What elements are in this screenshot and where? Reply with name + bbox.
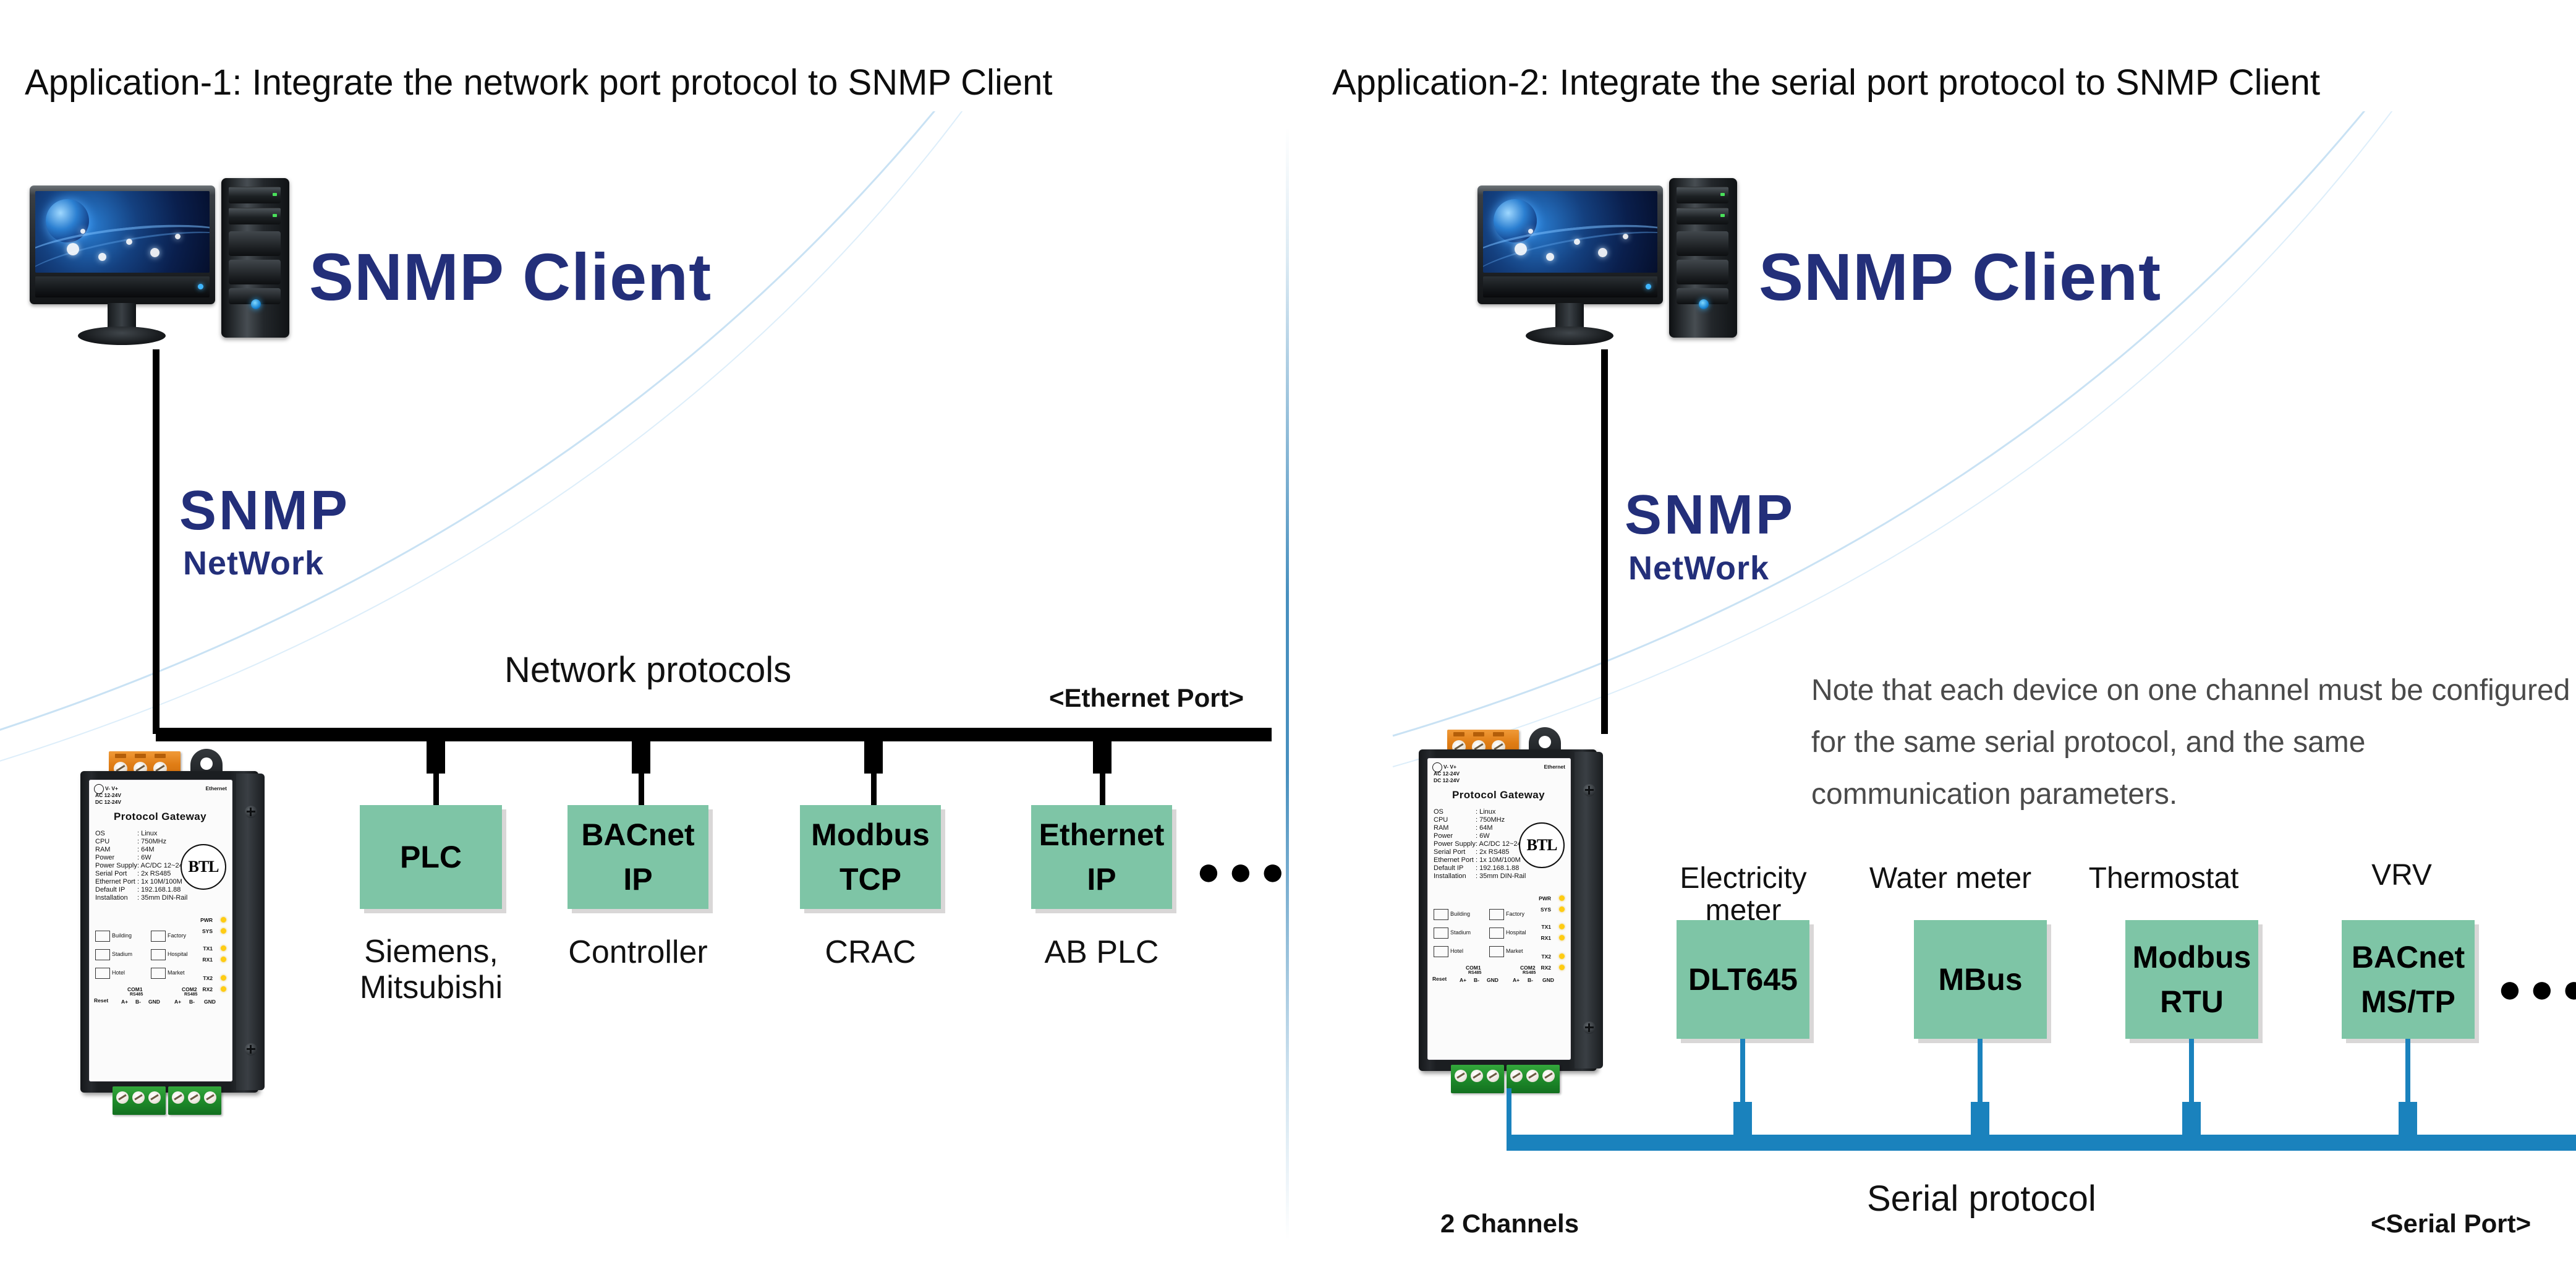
hospital-icon [151,949,166,960]
screw-icon-top [245,806,257,818]
serial-configuration-note: Note that each device on one channel mus… [1811,665,2572,821]
spec-value-8-b: : 35mm DIN-Rail [1476,872,1526,880]
com1-name: COM1 [127,986,143,992]
spec-key-6-b: Ethernet Port [1434,856,1474,864]
led-label-tx2-2: TX2 [1541,953,1551,960]
app-label-hotel: Hotel [112,970,125,976]
spec-value-2: : 64M [137,846,155,853]
protocol-box-ethernet-ip[interactable]: Ethernet IP [1031,805,1172,909]
com1-pin-b-2: B- [1474,977,1479,983]
spec-value-5-b: : 2x RS485 [1476,848,1509,856]
spec-value-2-b: : 64M [1476,824,1493,832]
spec-value-8: : 35mm DIN-Rail [137,894,187,902]
spec-value-3: : 6W [137,854,151,861]
bus-drop-3 [871,741,877,806]
com2-terminal-block-icon-2 [1507,1065,1560,1093]
gateway-title-2: Protocol Gateway [1452,789,1545,801]
protocol-box-modbus-rtu[interactable]: Modbus RTU [2125,920,2258,1039]
spec-key-7-b: Default IP [1434,864,1463,872]
monitor-screen-2 [1483,191,1657,273]
com2-terminal-block-icon [168,1086,221,1115]
screw-icon-bottom-2 [1583,1021,1596,1034]
led-label-rx1: RX1 [202,957,213,963]
serial-drop-gateway [1507,1088,1511,1138]
ethernet-port-tag-2: Ethernet [1544,764,1565,770]
ethernet-port-tag-label: <Ethernet Port> [1049,683,1244,713]
panel-2-title: Application-2: Integrate the serial port… [1332,62,2320,103]
protocol-box-plc[interactable]: PLC [360,805,502,909]
led-tx2-2 [1559,953,1565,959]
com1-pin-b: B- [135,999,141,1005]
snmp-link-label-2-line1: SNMP [1625,484,1795,547]
app-label-stadium: Stadium [112,951,132,957]
spec-value-0: : Linux [137,830,157,837]
protocol-box-modbus-tcp-line-1: TCP [840,857,901,902]
monitor-icon [30,186,215,304]
com1-pin-a: A+ [121,999,128,1005]
protocol-box-ethernet-ip-line-1: IP [1087,857,1116,902]
terminal-legend-line3: DC 12-24V [95,799,121,805]
led-label-pwr: PWR [200,917,213,923]
led-rx1 [221,957,226,962]
device-caption-thermostat: Thermostat [2068,863,2259,895]
protocol-box-plc-line-0: PLC [400,835,462,880]
snmp-link-line-2 [1601,349,1608,734]
led-label-rx2: RX2 [202,986,213,992]
monitor-screen [35,191,210,273]
spec-value-7-b: : 192.168.1.88 [1476,864,1519,872]
market-icon [151,968,166,979]
app-label-hospital: Hospital [168,951,188,957]
snmp-link-label-1-line2: NetWork [183,544,324,582]
app-label-factory: Factory [168,932,186,939]
snmp-link-label-1-line1: SNMP [179,479,350,543]
com1-terminal-block-icon [113,1086,166,1115]
protocol-box-mbus[interactable]: MBus [1914,920,2047,1039]
com1-bus: RS485 [130,992,143,997]
serial-bus-label: Serial protocol [1867,1178,2096,1219]
led-label-rx1-2: RX1 [1541,935,1551,941]
spec-key-5-b: Serial Port [1434,848,1465,856]
device-caption-plc-l2: Mitsubishi [337,970,525,1005]
led-pwr-2 [1559,895,1565,901]
led-tx1-2 [1559,924,1565,929]
more-devices-ellipsis-1: ●●● [1196,847,1293,894]
led-rx1-2 [1559,935,1565,940]
btl-certification-icon: BTL [181,844,226,890]
app-label-hospital-2: Hospital [1506,929,1526,936]
device-caption-water-meter: Water meter [1855,863,2046,895]
protocol-box-bacnet-ip-line-0: BACnet [581,812,694,858]
panel-1-title: Application-1: Integrate the network por… [25,62,1052,103]
ethernet-port-tag: Ethernet [206,785,227,791]
app-label-stadium-2: Stadium [1450,929,1471,936]
ground-symbol-icon-2 [1432,762,1442,772]
network-bus-label: Network protocols [504,649,791,691]
factory-icon [151,931,166,942]
network-bus-line [156,728,1272,741]
reset-label-2: Reset [1432,976,1447,982]
led-label-sys: SYS [202,928,213,934]
spec-key-8: Installation [95,894,128,902]
spec-value-5: : 2x RS485 [137,870,171,877]
protocol-box-bacnet-mstp-line-1: MS/TP [2361,979,2455,1025]
device-caption-crac: CRAC [800,934,941,971]
protocol-box-modbus-rtu-line-0: Modbus [2133,935,2251,980]
panel-divider [1286,127,1289,1240]
protocol-gateway-device-1: V- V+ AC 12-24V DC 12-24V Ethernet Proto… [80,739,272,1116]
computer-tower-icon-2 [1669,178,1737,338]
spec-key-4: Power Supply [95,862,137,869]
hospital-icon-2 [1489,928,1504,939]
serial-drop-cap-2 [1971,1102,1989,1138]
app-label-building-2: Building [1450,911,1470,917]
computer-tower-icon [221,178,289,338]
device-caption-electricity-l1: Electricity [1663,863,1824,895]
app-label-market: Market [168,970,185,976]
com1-terminal-block-icon-2 [1451,1065,1504,1093]
protocol-box-bacnet-mstp[interactable]: BACnet MS/TP [2342,920,2475,1039]
terminal-legend-line1: V- V+ [105,785,118,791]
led-label-sys-2: SYS [1541,906,1551,913]
protocol-box-modbus-rtu-line-1: RTU [2160,979,2224,1025]
snmp-client-computer-1 [30,186,295,352]
com2-pin-b-2: B- [1528,977,1533,983]
stadium-icon-2 [1434,928,1448,939]
led-sys [221,928,226,934]
protocol-box-dlt645-line-0: DLT645 [1688,957,1798,1002]
com1-pin-g: GND [148,999,160,1005]
market-icon-2 [1489,946,1504,957]
spec-key-1-b: CPU [1434,816,1448,824]
spec-key-2: RAM [95,846,110,853]
hotel-icon-2 [1434,946,1448,957]
led-label-tx2: TX2 [203,975,213,981]
spec-key-5: Serial Port [95,870,127,877]
spec-key-4-b: Power Supply [1434,840,1476,848]
terminal-legend-line1-2: V- V+ [1443,764,1456,770]
com2-name: COM2 [182,986,197,992]
spec-key-1: CPU [95,838,109,845]
diagram-canvas: Application-1: Integrate the network por… [0,0,2576,1288]
app-label-market-2: Market [1506,948,1523,954]
serial-bus-line [1507,1135,2576,1151]
gateway-title: Protocol Gateway [114,811,206,823]
led-tx2 [221,975,226,981]
device-caption-ab-plc: AB PLC [1031,934,1172,971]
bus-drop-1 [433,741,439,806]
spec-value-4: : AC/DC 12~24V [137,862,187,869]
stadium-icon [95,949,110,960]
snmp-client-computer-2 [1477,186,1743,352]
app-label-hotel-2: Hotel [1450,948,1463,954]
ground-symbol-icon [94,784,104,794]
screw-icon-top-2 [1583,784,1596,796]
com1-bus-2: RS485 [1468,971,1481,975]
spec-value-3-b: : 6W [1476,832,1490,840]
screw-icon-bottom [245,1043,257,1056]
spec-value-4-b: : AC/DC 12~24V [1476,840,1526,848]
device-caption-controller: Controller [567,934,708,971]
channels-label: 2 Channels [1440,1209,1579,1239]
spec-key-8-b: Installation [1434,872,1466,880]
spec-value-6-b: : 1x 10M/100M [1476,856,1521,864]
led-label-pwr-2: PWR [1539,895,1551,902]
serial-port-tag-label: <Serial Port> [2371,1209,2531,1239]
spec-key-0: OS [95,830,105,837]
protocol-box-bacnet-ip-line-1: IP [623,857,652,902]
gateway-faceplate: V- V+ AC 12-24V DC 12-24V Ethernet Proto… [89,780,232,1081]
spec-value-1-b: : 750MHz [1476,816,1505,824]
snmp-client-label-1: SNMP Client [309,238,712,315]
device-caption-plc-l1: Siemens, [337,934,525,970]
bus-drop-4 [1100,741,1105,806]
com2-pin-a: A+ [174,999,181,1005]
protocol-box-ethernet-ip-line-0: Ethernet [1039,812,1165,858]
com2-bus-2: RS485 [1523,971,1536,975]
snmp-link-line-1 [153,349,159,734]
com2-bus: RS485 [184,992,197,997]
led-rx2-2 [1559,965,1565,970]
serial-drop-cap-4 [2399,1102,2417,1138]
gateway-faceplate-2: V- V+ AC 12-24V DC 12-24V Ethernet Proto… [1427,758,1571,1060]
app-label-building: Building [112,932,132,939]
spec-value-6: : 1x 10M/100M [137,878,182,885]
led-pwr [221,917,226,923]
app-label-factory-2: Factory [1506,911,1524,917]
serial-drop-cap-3 [2182,1102,2201,1138]
spec-value-0-b: : Linux [1476,808,1495,816]
serial-drop-cap-1 [1733,1102,1752,1138]
com1-pin-a-2: A+ [1460,977,1466,983]
led-rx2 [221,986,226,992]
spec-key-3-b: Power [1434,832,1453,840]
protocol-box-dlt645[interactable]: DLT645 [1677,920,1809,1039]
spec-key-0-b: OS [1434,808,1443,816]
snmp-link-label-2-line2: NetWork [1628,549,1769,587]
com2-name-2: COM2 [1520,965,1536,971]
reset-label: Reset [94,997,108,1004]
device-caption-vrv: VRV [2331,859,2473,892]
led-sys-2 [1559,906,1565,912]
led-label-tx1-2: TX1 [1541,924,1551,930]
com1-pin-g-2: GND [1487,977,1498,983]
snmp-client-label-2: SNMP Client [1759,238,2161,315]
com2-pin-g: GND [204,999,216,1005]
building-icon [95,931,110,942]
led-tx1 [221,945,226,951]
protocol-box-mbus-line-0: MBus [1938,957,2022,1002]
protocol-gateway-device-2: V- V+ AC 12-24V DC 12-24V Ethernet Proto… [1419,717,1610,1094]
protocol-box-bacnet-ip[interactable]: BACnet IP [567,805,708,909]
com2-pin-g-2: GND [1542,977,1554,983]
com2-pin-a-2: A+ [1513,977,1520,983]
protocol-box-bacnet-mstp-line-0: BACnet [2352,935,2465,980]
hotel-icon [95,968,110,979]
more-devices-ellipsis-2: ●●● [2497,965,2576,1012]
terminal-legend-line3-2: DC 12-24V [1434,777,1460,783]
device-caption-plc: Siemens, Mitsubishi [337,934,525,1005]
spec-value-1: : 750MHz [137,838,166,845]
bus-drop-2 [639,741,644,806]
device-caption-electricity-meter: Electricity meter [1663,863,1824,927]
protocol-box-modbus-tcp-line-0: Modbus [811,812,930,858]
protocol-box-modbus-tcp[interactable]: Modbus TCP [800,805,941,909]
spec-value-7: : 192.168.1.88 [137,886,181,893]
spec-key-2-b: RAM [1434,824,1448,832]
com1-name-2: COM1 [1466,965,1481,971]
btl-certification-icon-2: BTL [1519,822,1565,868]
spec-key-3: Power [95,854,114,861]
factory-icon-2 [1489,909,1504,920]
com2-pin-b: B- [189,999,195,1005]
monitor-icon-2 [1477,186,1663,304]
spec-key-7: Default IP [95,886,125,893]
building-icon-2 [1434,909,1448,920]
led-label-rx2-2: RX2 [1541,965,1551,971]
spec-key-6: Ethernet Port [95,878,135,885]
led-label-tx1: TX1 [203,945,213,952]
